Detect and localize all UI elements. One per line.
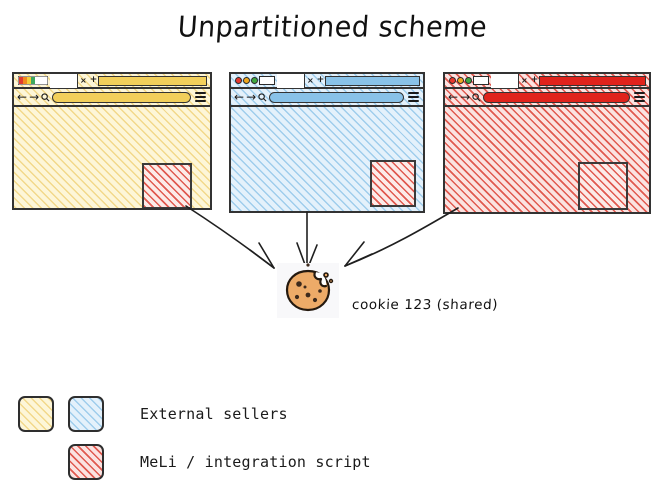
titlebar: × + <box>445 74 649 89</box>
legend-label-meli: MeLi / integration script <box>140 453 371 471</box>
new-tab-icon[interactable]: + <box>530 76 540 85</box>
forward-icon[interactable]: → <box>460 91 470 103</box>
toolbar: ← → <box>445 89 649 107</box>
forward-icon[interactable]: → <box>246 91 256 103</box>
active-tab[interactable] <box>50 73 78 88</box>
swatch-yellow <box>18 396 54 432</box>
toolbar: ← → <box>231 89 423 107</box>
striped-logo-icon <box>18 76 48 85</box>
window-controls-striped-logo[interactable] <box>16 75 50 86</box>
page-title: Unpartitioned scheme <box>0 11 665 44</box>
legend-row-external-sellers: External sellers <box>18 396 288 432</box>
forward-icon[interactable]: → <box>29 91 39 103</box>
integration-script-iframe[interactable] <box>370 160 416 207</box>
search-icon[interactable] <box>258 93 267 102</box>
browser-window-meli[interactable]: × + ← → <box>443 72 651 214</box>
back-icon[interactable]: ← <box>234 91 244 103</box>
close-window-icon[interactable] <box>235 77 242 84</box>
address-bar[interactable] <box>483 92 630 103</box>
search-icon[interactable] <box>472 93 481 102</box>
page-viewport <box>445 107 649 214</box>
address-bar[interactable] <box>269 92 404 103</box>
titlebar: × + <box>231 74 423 89</box>
close-tab-icon[interactable]: × <box>519 77 530 85</box>
arrow-from-window-1 <box>186 206 274 268</box>
legend-row-meli: MeLi / integration script <box>68 444 371 480</box>
window-control-blank <box>259 76 275 85</box>
new-tab-icon[interactable]: + <box>316 76 326 85</box>
toolbar: ← → <box>14 89 210 107</box>
close-tab-icon[interactable]: × <box>78 77 89 85</box>
cookie-icon <box>277 263 339 318</box>
cookie-node <box>277 263 339 318</box>
integration-script-iframe[interactable] <box>142 163 192 209</box>
tab-strip[interactable] <box>98 76 207 86</box>
active-tab[interactable] <box>491 73 519 88</box>
hamburger-icon[interactable] <box>632 92 646 102</box>
back-icon[interactable]: ← <box>17 91 27 103</box>
active-tab[interactable] <box>277 73 305 88</box>
address-bar[interactable] <box>52 92 191 103</box>
arrow-from-window-3 <box>345 208 458 266</box>
maximize-window-icon[interactable] <box>251 77 258 84</box>
hamburger-icon[interactable] <box>406 92 420 102</box>
new-tab-icon[interactable]: + <box>89 76 99 85</box>
search-icon[interactable] <box>41 93 50 102</box>
back-icon[interactable]: ← <box>448 91 458 103</box>
browser-window-external-seller-1[interactable]: × + ← → <box>12 72 212 210</box>
swatch-blue <box>68 396 104 432</box>
close-tab-icon[interactable]: × <box>305 77 316 85</box>
browser-window-external-seller-2[interactable]: × + ← → <box>229 72 425 213</box>
maximize-window-icon[interactable] <box>465 77 472 84</box>
window-controls-traffic-lights[interactable] <box>233 75 277 86</box>
page-viewport <box>14 107 210 210</box>
minimize-window-icon[interactable] <box>243 77 250 84</box>
tab-strip[interactable] <box>325 76 420 86</box>
minimize-window-icon[interactable] <box>457 77 464 84</box>
close-window-icon[interactable] <box>449 77 456 84</box>
legend-label-external-sellers: External sellers <box>140 405 288 423</box>
swatch-red <box>68 444 104 480</box>
cookie-label: cookie 123 (shared) <box>352 297 499 313</box>
titlebar: × + <box>14 74 210 89</box>
window-control-blank <box>473 76 489 85</box>
tab-strip[interactable] <box>539 76 646 86</box>
window-controls-traffic-lights[interactable] <box>447 75 491 86</box>
hamburger-icon[interactable] <box>193 92 207 102</box>
page-viewport <box>231 107 423 213</box>
integration-script-iframe[interactable] <box>578 162 628 210</box>
